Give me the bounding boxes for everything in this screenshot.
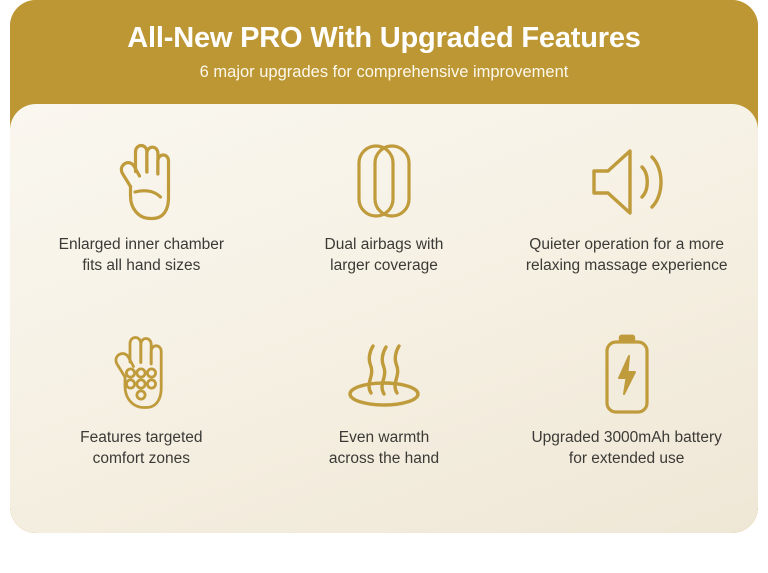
heat-steam-icon <box>342 329 426 421</box>
open-hand-icon <box>105 136 177 228</box>
feature-item-quieter-operation: Quieter operation for a more relaxing ma… <box>505 130 748 323</box>
feature-caption: Upgraded 3000mAh battery for extended us… <box>531 427 721 469</box>
feature-caption: Quieter operation for a more relaxing ma… <box>526 234 728 276</box>
card-header: All-New PRO With Upgraded Features 6 maj… <box>10 0 758 108</box>
page-subtitle: 6 major upgrades for comprehensive impro… <box>10 60 758 84</box>
promo-card: All-New PRO With Upgraded Features 6 maj… <box>10 0 758 533</box>
feature-item-dual-airbags: Dual airbags with larger coverage <box>263 130 506 323</box>
card-body: Enlarged inner chamber fits all hand siz… <box>10 104 758 533</box>
feature-caption: Enlarged inner chamber fits all hand siz… <box>59 234 224 276</box>
speaker-volume-icon <box>586 136 668 228</box>
feature-item-even-warmth: Even warmth across the hand <box>263 323 506 516</box>
battery-charge-icon <box>599 329 655 421</box>
feature-caption: Even warmth across the hand <box>329 427 439 469</box>
feature-grid: Enlarged inner chamber fits all hand siz… <box>20 130 748 515</box>
feature-item-comfort-zones: Features targeted comfort zones <box>20 323 263 516</box>
page-title: All-New PRO With Upgraded Features <box>10 18 758 58</box>
acupressure-hand-icon <box>103 329 179 421</box>
feature-caption: Dual airbags with larger coverage <box>325 234 444 276</box>
dual-airbags-icon <box>349 136 419 228</box>
feature-item-upgraded-battery: Upgraded 3000mAh battery for extended us… <box>505 323 748 516</box>
feature-item-enlarged-chamber: Enlarged inner chamber fits all hand siz… <box>20 130 263 323</box>
feature-caption: Features targeted comfort zones <box>80 427 202 469</box>
